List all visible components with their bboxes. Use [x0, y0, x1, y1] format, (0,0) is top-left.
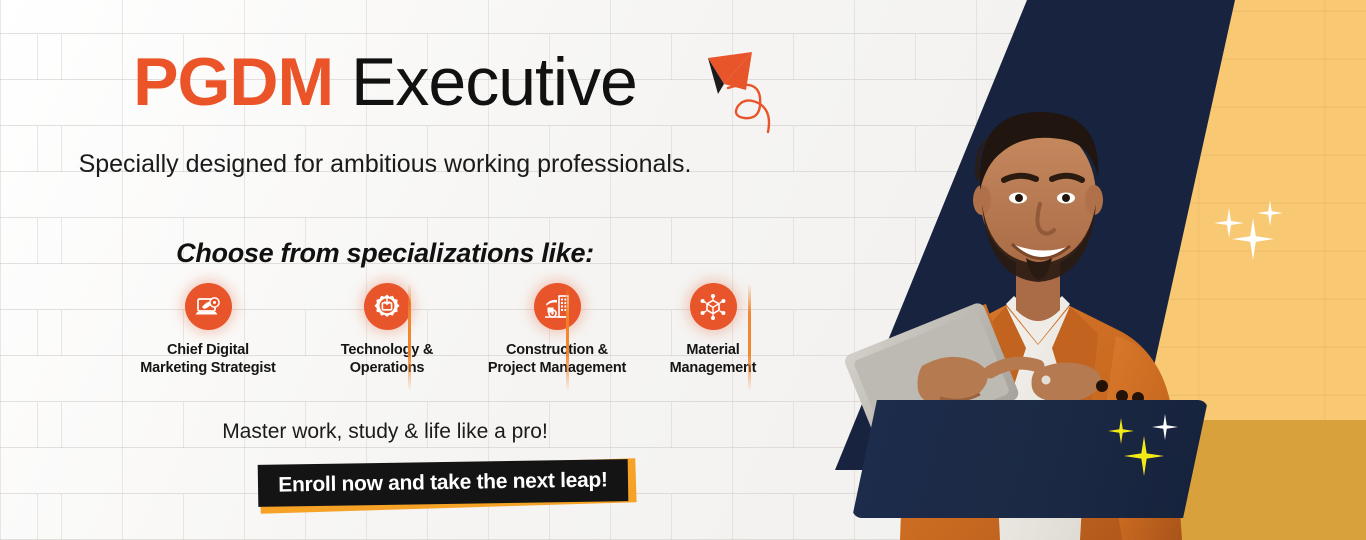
tagline: Master work, study & life like a pro!	[0, 420, 770, 444]
specialization-divider	[408, 283, 411, 391]
gear-box-icon	[364, 283, 411, 330]
subtitle: Specially designed for ambitious working…	[0, 148, 770, 182]
specialization-label: Material Management	[670, 341, 757, 378]
choose-heading: Choose from specializations like:	[0, 238, 770, 269]
laptop-rocket-gear-icon	[185, 283, 232, 330]
enroll-now-button[interactable]: Enroll now and take the next leap!	[258, 459, 629, 507]
specialization-divider	[566, 283, 569, 391]
specialization-item-chief-digital-marketing-strategist[interactable]: Chief Digital Marketing Strategist	[108, 283, 308, 378]
headline-rest: Executive	[333, 44, 637, 120]
paper-plane-icon	[698, 50, 788, 140]
cube-network-icon	[690, 283, 737, 330]
specialization-item-technology-operations[interactable]: Technology & Operations	[308, 283, 466, 378]
specialization-label: Technology & Operations	[341, 341, 433, 378]
sparkle-yellow-large	[1124, 436, 1164, 476]
specialization-item-construction-project-management[interactable]: Construction & Project Management	[466, 283, 648, 378]
specialization-item-material-management[interactable]: Material Management	[648, 283, 778, 378]
headline-accent: PGDM	[133, 44, 333, 120]
specialization-divider	[748, 283, 751, 391]
page-title: PGDM Executive	[0, 48, 770, 116]
promo-banner: PGDM Executive Specially designed for am…	[0, 0, 1366, 540]
cta-container: Enroll now and take the next leap!	[258, 458, 638, 514]
sparkle-white-bottom	[1152, 414, 1178, 440]
sparkle-white-large	[1232, 218, 1274, 260]
specialization-label: Construction & Project Management	[488, 341, 626, 378]
specializations-list: Chief Digital Marketing Strategist Techn…	[108, 283, 778, 393]
building-crane-icon	[534, 283, 581, 330]
banner-content: PGDM Executive Specially designed for am…	[0, 0, 830, 540]
specialization-label: Chief Digital Marketing Strategist	[140, 341, 275, 378]
